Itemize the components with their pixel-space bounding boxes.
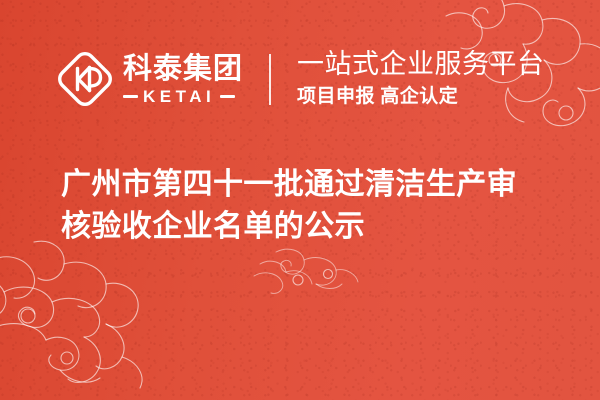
brand-latin-row: KETAI	[123, 88, 243, 105]
wordmark-rule-right	[220, 95, 235, 98]
auspicious-cloud-center-icon	[240, 244, 360, 296]
wordmark-rule-left	[123, 95, 138, 98]
ketai-diamond-monogram-icon	[56, 50, 114, 108]
tagline-primary: 一站式企业服务平台	[297, 49, 545, 80]
brand-logo[interactable]: 科泰集团 KETAI	[56, 42, 243, 116]
headline-line-1: 广州市第四十一批通过清洁生产审	[61, 164, 553, 206]
banner-header: 科泰集团 KETAI 一站式企业服务平台 项目申报 高企认定	[56, 42, 545, 116]
headline-line-2: 核验收企业名单的公示	[61, 206, 553, 248]
brand-wordmark: 科泰集团 KETAI	[123, 54, 243, 105]
banner-headline: 广州市第四十一批通过清洁生产审 核验收企业名单的公示	[61, 164, 553, 248]
brand-name-cn: 科泰集团	[123, 54, 243, 85]
header-vertical-divider	[269, 54, 271, 105]
auspicious-cloud-bottom-left-icon	[0, 238, 220, 388]
tagline-secondary: 项目申报 高企认定	[297, 84, 545, 109]
brand-tagline: 一站式企业服务平台 项目申报 高企认定	[297, 49, 545, 109]
brand-name-latin: KETAI	[143, 88, 215, 105]
promo-banner: 科泰集团 KETAI 一站式企业服务平台 项目申报 高企认定 广州市第四十一批通…	[0, 0, 600, 400]
